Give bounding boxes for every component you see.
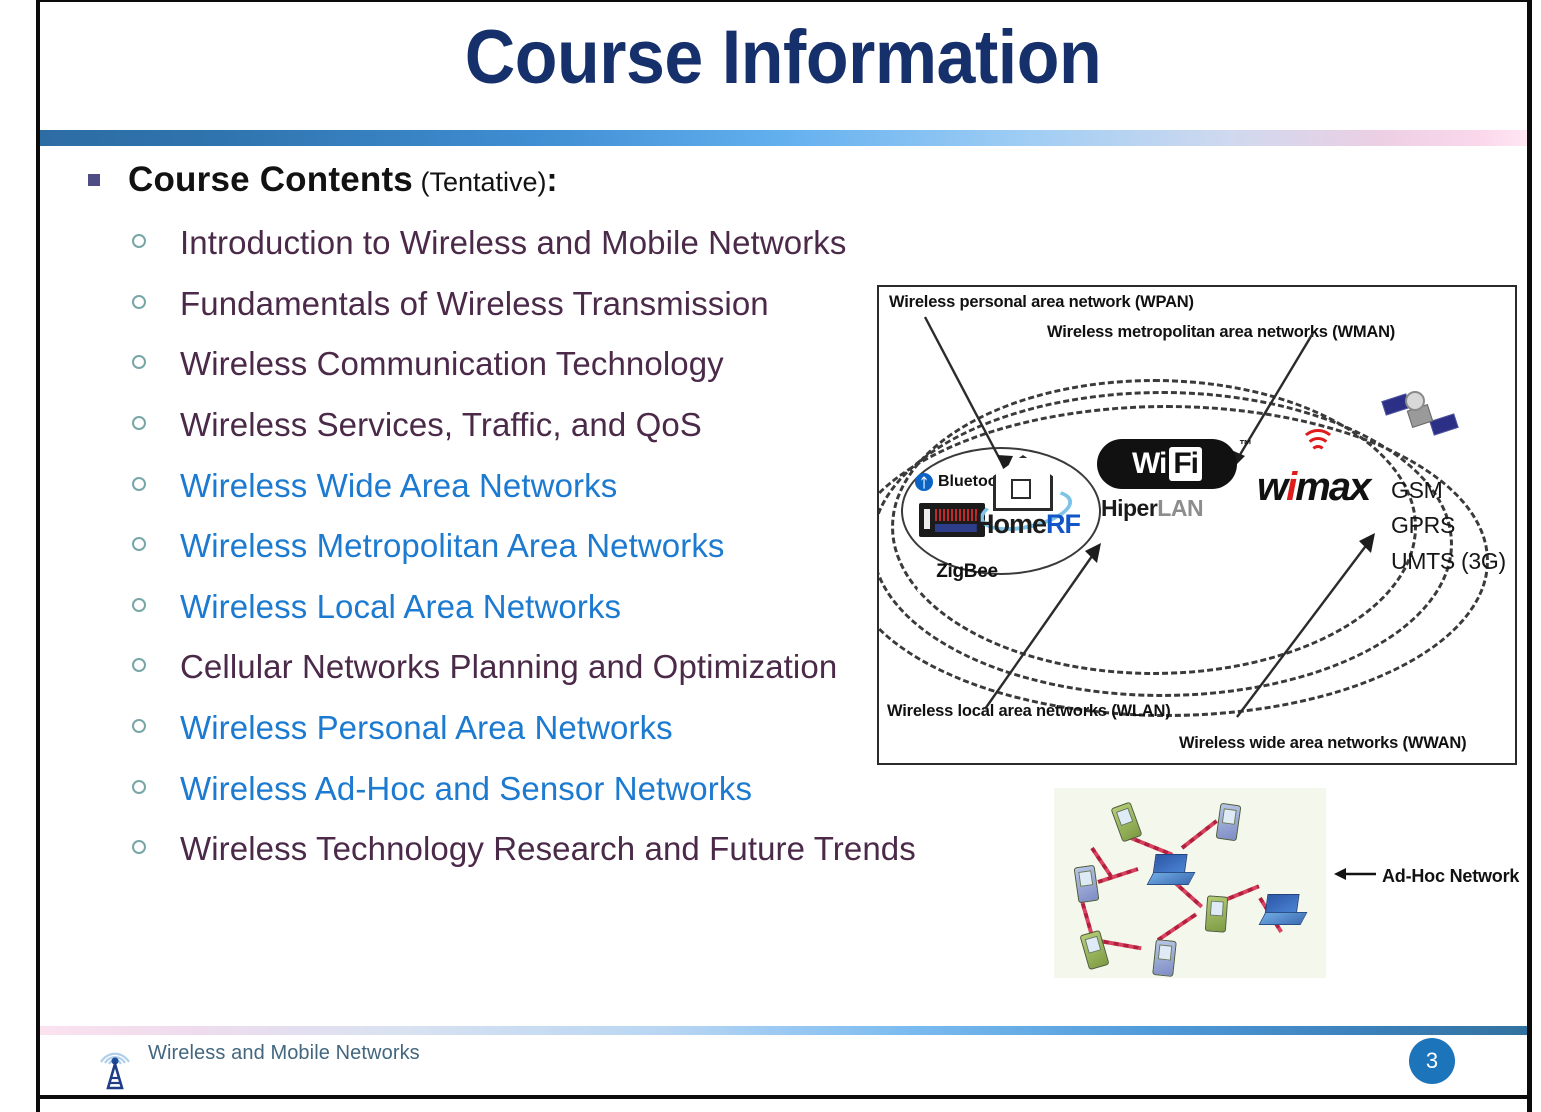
circle-bullet-icon	[132, 295, 146, 309]
radio-tower-icon	[88, 1036, 142, 1092]
heading-paren: (Tentative)	[413, 167, 547, 197]
wimax-i-label: i	[1286, 465, 1295, 509]
circle-bullet-icon	[132, 477, 146, 491]
list-item-label: Cellular Networks Planning and Optimizat…	[180, 650, 837, 685]
list-item: Wireless Wide Area Networks	[56, 469, 1016, 504]
heading-colon: :	[547, 161, 558, 198]
adhoc-callout-arrow	[1334, 866, 1376, 882]
homerf-home-label: Home	[975, 509, 1046, 539]
satellite-dish	[1405, 391, 1425, 411]
circle-bullet-icon	[132, 840, 146, 854]
wimax-logo: wimax	[1257, 465, 1393, 510]
list-item-label: Wireless Technology Research and Future …	[180, 832, 916, 867]
square-bullet-icon	[88, 174, 100, 186]
hiperlan-logo: HiperLAN	[1101, 495, 1203, 522]
list-item-label: Introduction to Wireless and Mobile Netw…	[180, 226, 847, 261]
slide-border-right	[1527, 0, 1532, 1112]
list-item: Cellular Networks Planning and Optimizat…	[56, 650, 1016, 685]
list-item: Wireless Services, Traffic, and QoS	[56, 408, 1016, 443]
circle-bullet-icon	[132, 355, 146, 369]
tech-label-gsm: GSM	[1391, 477, 1443, 504]
satellite-icon	[1383, 383, 1455, 453]
laptop-node	[1262, 894, 1302, 924]
wimax-signal-icon	[1301, 431, 1335, 461]
list-item-label: Wireless Services, Traffic, and QoS	[180, 408, 702, 443]
hiperlan-main-label: Hiper	[1101, 495, 1157, 521]
list-item: Introduction to Wireless and Mobile Netw…	[56, 226, 1016, 261]
list-item: Wireless Personal Area Networks	[56, 711, 1016, 746]
adhoc-callout-label: Ad-Hoc Network	[1382, 866, 1519, 887]
irda-bar-blue-icon	[935, 524, 979, 532]
list-item: Wireless Local Area Networks	[56, 590, 1016, 625]
zigbee-logo: ZigBee	[917, 559, 1017, 583]
list-item: Fundamentals of Wireless Transmission	[56, 287, 1016, 322]
slide-canvas: Course Information Course Contents (Tent…	[0, 0, 1541, 1112]
footer-divider-bar	[40, 1026, 1527, 1035]
mobile-phone-node	[1074, 865, 1100, 904]
circle-bullet-icon	[132, 598, 146, 612]
figure-label-wpan: Wireless personal area network (WPAN)	[889, 293, 1194, 312]
tech-label-gprs: GPRS	[1391, 512, 1455, 539]
mobile-phone-node	[1152, 939, 1177, 977]
circle-bullet-icon	[132, 234, 146, 248]
slide-border-top	[36, 0, 1532, 2]
list-item: Wireless Ad-Hoc and Sensor Networks	[56, 772, 1016, 807]
list-item: Wireless Communication Technology	[56, 347, 1016, 382]
list-item-label: Wireless Personal Area Networks	[180, 711, 673, 746]
circle-bullet-icon	[132, 537, 146, 551]
mobile-phone-node	[1079, 930, 1109, 970]
bluetooth-icon: ᛏ	[915, 473, 933, 491]
wifi-wi-label: Wi	[1132, 447, 1166, 481]
tech-label-umts: UMTS (3G)	[1391, 548, 1506, 575]
heading-strong: Course Contents	[128, 160, 413, 199]
list-item-label: Wireless Communication Technology	[180, 347, 724, 382]
irda-dot-icon	[924, 509, 930, 529]
page-number-badge: 3	[1409, 1038, 1455, 1084]
satellite-panel-right	[1429, 413, 1458, 435]
hiperlan-grey-label: LAN	[1157, 495, 1203, 521]
slide-border-bottom	[36, 1095, 1532, 1099]
list-item-label: Wireless Ad-Hoc and Sensor Networks	[180, 772, 752, 807]
adhoc-link	[1157, 913, 1197, 942]
adhoc-network-image	[1054, 788, 1326, 978]
laptop-node	[1150, 854, 1190, 884]
slide-border-left	[36, 0, 40, 1112]
wimax-w-label: w	[1257, 465, 1286, 509]
page-title: Course Information	[99, 20, 1466, 96]
header-divider-bar	[40, 130, 1527, 146]
adhoc-link	[1181, 819, 1218, 849]
circle-bullet-icon	[132, 658, 146, 672]
circle-bullet-icon	[132, 719, 146, 733]
wifi-fi-label: Fi	[1169, 447, 1202, 481]
wifi-logo: WiFi	[1097, 439, 1237, 489]
list-item: Wireless Technology Research and Future …	[56, 832, 1016, 867]
list-item: Wireless Metropolitan Area Networks	[56, 529, 1016, 564]
course-contents-list: Course Contents (Tentative): Introductio…	[56, 160, 1016, 893]
wireless-networks-diagram: Wireless personal area network (WPAN) Wi…	[877, 285, 1517, 765]
footer-label: Wireless and Mobile Networks	[148, 1042, 420, 1065]
mobile-phone-node	[1110, 801, 1142, 842]
homerf-text: HomeRF	[975, 509, 1080, 540]
mobile-phone-node	[1216, 803, 1242, 842]
circle-bullet-icon	[132, 416, 146, 430]
list-item-label: Fundamentals of Wireless Transmission	[180, 287, 769, 322]
mobile-phone-node	[1205, 895, 1228, 932]
list-item-label: Wireless Local Area Networks	[180, 590, 621, 625]
homerf-rf-label: RF	[1046, 509, 1080, 539]
list-item-heading: Course Contents (Tentative):	[56, 160, 1016, 200]
figure-label-wwan: Wireless wide area networks (WWAN)	[1179, 734, 1466, 753]
list-item-label: Wireless Wide Area Networks	[180, 469, 617, 504]
wimax-max-label: max	[1295, 465, 1369, 509]
wimax-text: wimax	[1257, 465, 1369, 509]
wifi-tm: ™	[1239, 437, 1252, 452]
list-item-label: Wireless Metropolitan Area Networks	[180, 529, 725, 564]
circle-bullet-icon	[132, 780, 146, 794]
irda-bars-icon	[935, 509, 979, 521]
wwan-pointer-arrow	[1231, 525, 1411, 725]
heading-text: Course Contents (Tentative):	[128, 160, 558, 200]
homerf-logo: HomeRF	[975, 455, 1091, 541]
